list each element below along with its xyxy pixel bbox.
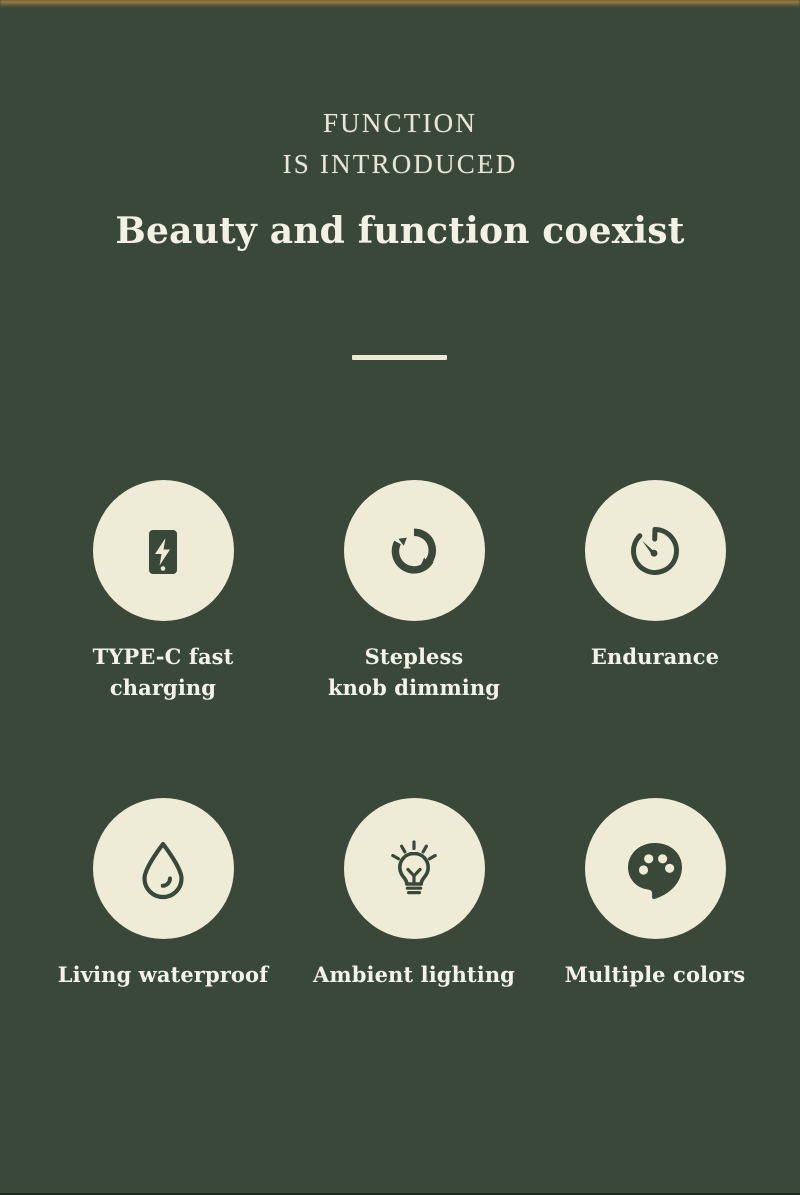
- feature-caption: Stepless knob dimming: [294, 641, 534, 703]
- feature-item-type-c-fast-charging[interactable]: TYPE-C fast charging: [43, 480, 283, 703]
- caption-line-1: Endurance: [535, 641, 775, 672]
- feature-caption: Ambient lighting: [294, 959, 534, 990]
- feature-item-living-waterproof[interactable]: Living waterproof: [43, 798, 283, 990]
- stopwatch-icon: [617, 513, 693, 589]
- light-bulb-icon: [376, 831, 452, 907]
- feature-caption: Living waterproof: [43, 959, 283, 990]
- feature-item-multiple-colors[interactable]: Multiple colors: [535, 798, 775, 990]
- feature-row: Living waterproof: [0, 798, 800, 1116]
- icon-badge: [93, 798, 234, 939]
- caption-line-1: Living waterproof: [43, 959, 283, 990]
- eyebrow-line-2: IS INTRODUCED: [0, 144, 800, 185]
- caption-line-2: knob dimming: [294, 672, 534, 703]
- top-image-bleed-strip: [0, 0, 800, 7]
- feature-item-stepless-knob-dimming[interactable]: Stepless knob dimming: [294, 480, 534, 703]
- icon-badge: [585, 480, 726, 621]
- feature-section-page: FUNCTION IS INTRODUCED Beauty and functi…: [0, 0, 800, 1195]
- feature-item-endurance[interactable]: Endurance: [535, 480, 775, 672]
- icon-badge: [344, 480, 485, 621]
- refresh-cycle-icon: [376, 513, 452, 589]
- feature-row: TYPE-C fast charging: [0, 480, 800, 798]
- page-title: Beauty and function coexist: [0, 210, 800, 252]
- icon-badge: [585, 798, 726, 939]
- color-palette-icon: [615, 829, 695, 909]
- caption-line-1: Multiple colors: [535, 959, 775, 990]
- icon-badge: [93, 480, 234, 621]
- eyebrow-line-1: FUNCTION: [0, 103, 800, 144]
- caption-line-1: TYPE-C fast charging: [43, 641, 283, 703]
- icon-badge: [344, 798, 485, 939]
- feature-caption: Endurance: [535, 641, 775, 672]
- feature-item-ambient-lighting[interactable]: Ambient lighting: [294, 798, 534, 990]
- feature-caption: TYPE-C fast charging: [43, 641, 283, 703]
- water-drop-icon: [125, 831, 201, 907]
- feature-grid: TYPE-C fast charging: [0, 480, 800, 1116]
- caption-line-1: Ambient lighting: [294, 959, 534, 990]
- phone-charging-icon: [127, 515, 199, 587]
- caption-line-1: Stepless: [294, 641, 534, 672]
- feature-caption: Multiple colors: [535, 959, 775, 990]
- header-divider: [352, 355, 447, 360]
